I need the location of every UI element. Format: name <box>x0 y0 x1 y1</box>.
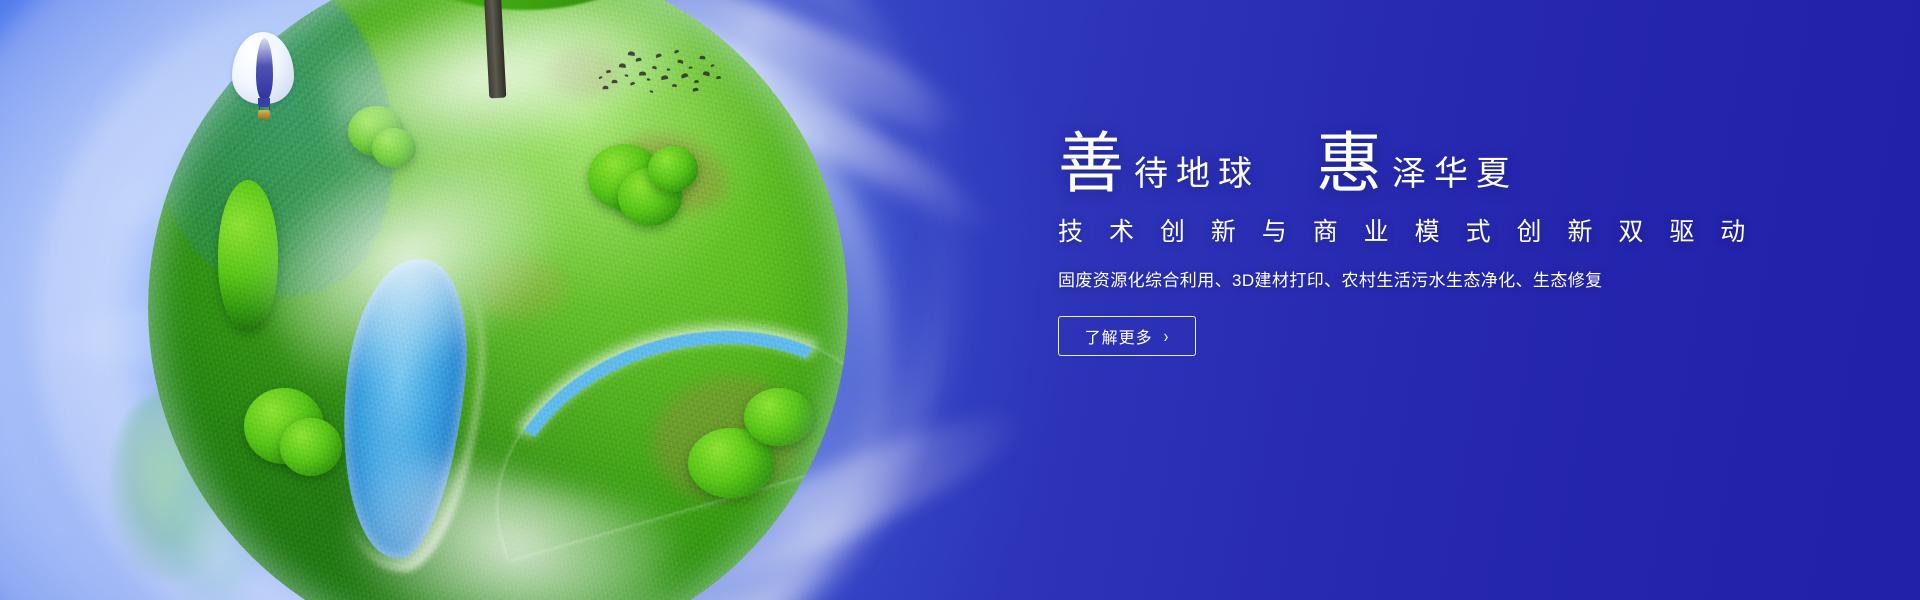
bird <box>710 64 714 67</box>
bird <box>692 87 698 91</box>
bird <box>647 78 651 81</box>
service-description: 固废资源化综合利用、3D建材打印、农村生活污水生态净化、生态修复 <box>1058 269 1818 293</box>
headline-big-char-right: 惠 <box>1316 132 1382 198</box>
bird <box>703 71 711 77</box>
bird <box>681 72 689 78</box>
bird <box>612 80 618 84</box>
hero-copy: 善 待地球 惠 泽华夏 技 术 创 新 与 商 业 模 式 创 新 双 驱 动 … <box>1058 132 1818 356</box>
bird <box>667 68 671 70</box>
bird <box>635 57 641 61</box>
bird <box>716 76 721 80</box>
bird <box>619 63 626 68</box>
bird <box>677 59 683 64</box>
bird <box>628 51 635 56</box>
learn-more-button[interactable]: 了解更多 › <box>1058 316 1196 356</box>
bird <box>598 76 602 79</box>
bird <box>625 74 629 77</box>
bird <box>674 49 679 53</box>
hero-banner: 善 待地球 惠 泽华夏 技 术 创 新 与 商 业 模 式 创 新 双 驱 动 … <box>0 0 1920 600</box>
bird <box>652 66 657 70</box>
bird <box>630 81 635 85</box>
headline-small-run-left: 待地球 <box>1124 158 1260 198</box>
page-subtitle: 技 术 创 新 与 商 业 模 式 创 新 双 驱 动 <box>1058 216 1818 249</box>
bird <box>650 90 654 93</box>
bird <box>672 84 677 87</box>
bird <box>694 80 699 83</box>
hot-air-balloon <box>232 32 294 124</box>
balloon-basket <box>258 110 270 119</box>
bird <box>689 66 693 69</box>
bird <box>603 86 609 90</box>
bird <box>661 75 668 80</box>
chevron-right-icon: › <box>1164 327 1170 346</box>
big-tree-canopy <box>360 0 690 10</box>
learn-more-label: 了解更多 <box>1085 324 1153 348</box>
big-tree-trunk <box>483 0 507 98</box>
page-title: 善 待地球 惠 泽华夏 <box>1058 132 1818 198</box>
bird <box>606 70 611 74</box>
headline-big-char-left: 善 <box>1058 132 1124 198</box>
bird <box>655 53 662 58</box>
bird <box>639 71 646 75</box>
bird-flock <box>594 46 724 106</box>
headline-small-run-right: 泽华夏 <box>1382 158 1518 198</box>
bird <box>699 55 705 59</box>
